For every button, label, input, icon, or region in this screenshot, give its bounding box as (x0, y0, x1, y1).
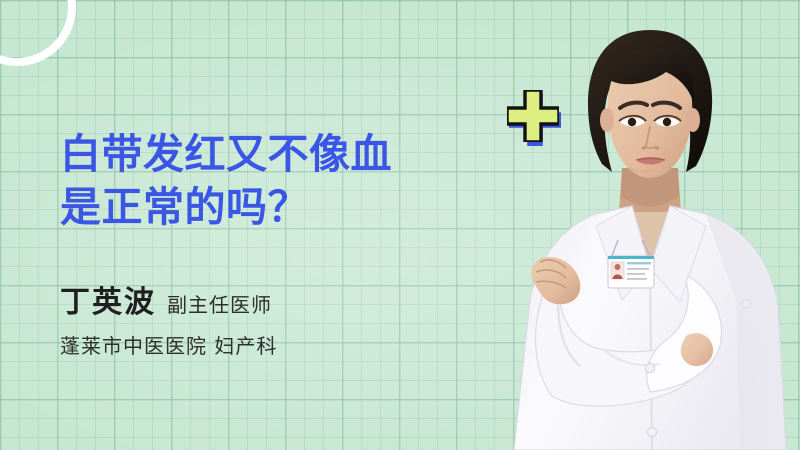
pupil-left (628, 118, 636, 126)
pupil-right (663, 118, 671, 126)
doctor-credit: 丁英波 副主任医师 蓬莱市中医医院 妇产科 (60, 277, 490, 359)
ear-right (686, 108, 700, 132)
doctor-affiliation: 蓬莱市中医医院 妇产科 (60, 330, 490, 359)
ear-left (600, 108, 614, 132)
doctor-portrait (500, 0, 800, 450)
headline-question: 白带发红又不像血 是正常的吗？ (60, 128, 490, 234)
doctor-portrait-illustration (500, 0, 800, 450)
doctor-credit-primary: 丁英波 副主任医师 (60, 277, 490, 321)
doctor-rank: 副主任医师 (167, 289, 272, 318)
coat-button-bottom (647, 427, 656, 436)
doctor-name: 丁英波 (60, 277, 156, 321)
promo-card: 白带发红又不像血 是正常的吗？ 丁英波 副主任医师 蓬莱市中医医院 妇产科 (0, 0, 800, 450)
nostril-right (655, 146, 660, 149)
coat-button-top (645, 363, 654, 372)
coat-pocket-button (742, 300, 750, 308)
nostril-left (642, 146, 647, 149)
